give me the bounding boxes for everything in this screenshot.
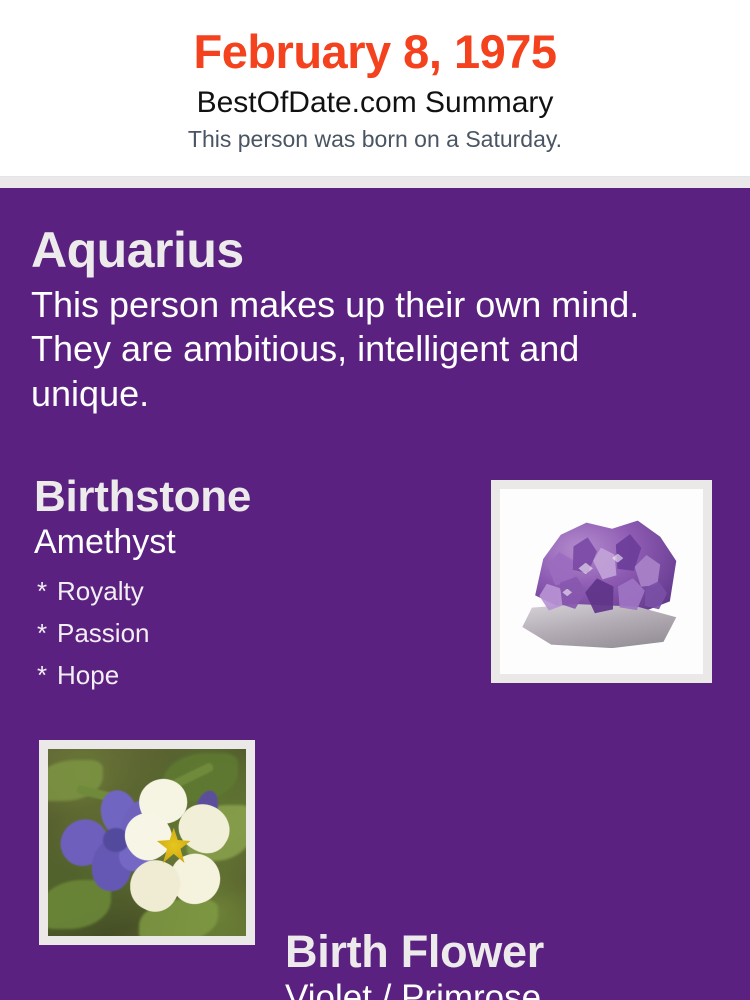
- birthstone-trait-label: Royalty: [57, 576, 144, 606]
- birthstone-image: [500, 489, 703, 674]
- zodiac-sign-title: Aquarius: [31, 224, 691, 277]
- birthstone-photo-frame: [491, 480, 712, 683]
- amethyst-cluster-icon: [522, 519, 682, 649]
- birthstone-name: Amethyst: [34, 521, 464, 561]
- birth-day-note: This person was born on a Saturday.: [0, 119, 750, 152]
- bullet-icon: *: [37, 570, 57, 612]
- birthstone-trait-label: Hope: [57, 660, 119, 690]
- zodiac-section: Aquarius This person makes up their own …: [31, 224, 691, 416]
- birth-flower-title: Birth Flower: [285, 928, 715, 977]
- zodiac-description: This person makes up their own mind. The…: [31, 277, 691, 417]
- birth-flower-image: [48, 749, 246, 936]
- list-item: *Passion: [37, 612, 464, 654]
- card-header: February 8, 1975 BestOfDate.com Summary …: [0, 0, 750, 176]
- birthstone-trait-list: *Royalty *Passion *Hope: [34, 561, 464, 696]
- list-item: *Hope: [37, 654, 464, 696]
- page-title-date: February 8, 1975: [0, 0, 750, 79]
- bullet-icon: *: [37, 654, 57, 696]
- birthstone-section: Birthstone Amethyst *Royalty *Passion *H…: [34, 473, 464, 696]
- birth-flower-photo-frame: [39, 740, 255, 945]
- birth-flower-section: Birth Flower Violet / Primrose *Modesty …: [285, 928, 715, 1000]
- birth-flower-name: Violet / Primrose: [285, 977, 715, 1000]
- site-summary-label: BestOfDate.com Summary: [0, 79, 750, 119]
- birthstone-trait-label: Passion: [57, 618, 150, 648]
- list-item: *Royalty: [37, 570, 464, 612]
- bullet-icon: *: [37, 612, 57, 654]
- date-summary-card: February 8, 1975 BestOfDate.com Summary …: [0, 0, 750, 1000]
- birthstone-title: Birthstone: [34, 473, 464, 521]
